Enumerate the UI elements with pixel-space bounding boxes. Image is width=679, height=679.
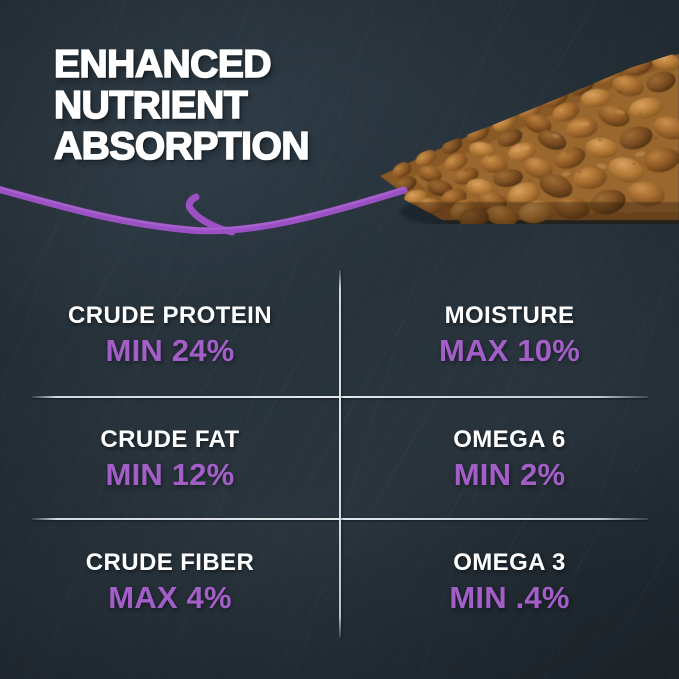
nutrient-value: MIN 2% (454, 459, 565, 490)
nutrient-value: MIN 24% (106, 335, 235, 366)
nutrient-cell-crude-fiber: CRUDE FIBER MAX 4% (0, 520, 340, 644)
nutrient-value: MIN .4% (449, 582, 569, 613)
nutrient-cell-moisture: MOISTURE MAX 10% (340, 272, 679, 398)
nutrient-label: CRUDE PROTEIN (68, 304, 272, 328)
nutrient-label: OMEGA 3 (453, 551, 566, 575)
page-title: ENHANCED NUTRIENT ABSORPTION (54, 44, 454, 167)
nutrient-cell-omega-6: OMEGA 6 MIN 2% (340, 398, 679, 520)
infographic-canvas: ENHANCED NUTRIENT ABSORPTION CRUDE PROTE… (0, 0, 679, 679)
nutrient-cell-crude-fat: CRUDE FAT MIN 12% (0, 398, 340, 520)
nutrient-label: MOISTURE (445, 304, 575, 328)
nutrient-label: OMEGA 6 (453, 428, 566, 452)
nutrient-cell-omega-3: OMEGA 3 MIN .4% (340, 520, 679, 644)
curved-pointer-arrow (0, 160, 420, 260)
guaranteed-analysis-table: CRUDE PROTEIN MIN 24% MOISTURE MAX 10% C… (0, 272, 679, 644)
nutrient-value: MIN 12% (106, 459, 235, 490)
nutrient-value: MAX 4% (108, 582, 232, 613)
nutrient-label: CRUDE FIBER (86, 551, 254, 575)
nutrient-cell-crude-protein: CRUDE PROTEIN MIN 24% (0, 272, 340, 398)
nutrient-value: MAX 10% (439, 335, 580, 366)
nutrient-label: CRUDE FAT (100, 428, 239, 452)
